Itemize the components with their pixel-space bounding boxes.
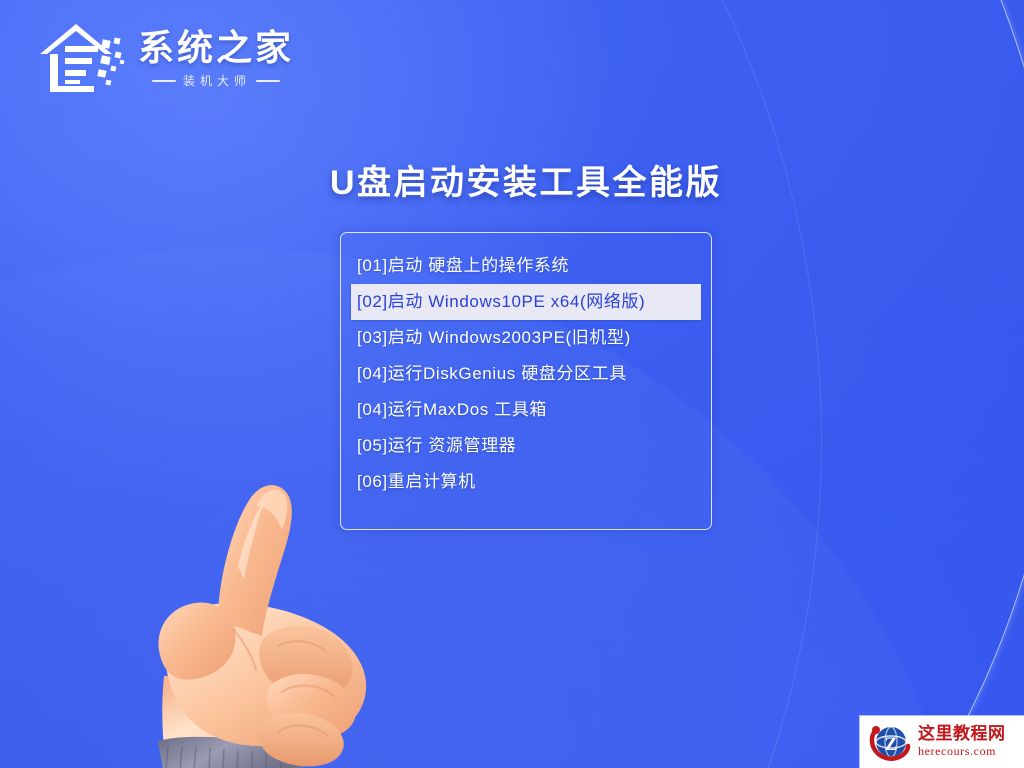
boot-menu-screen: 系统之家 装机大师 U盘启动安装工具全能版 [01]启动 硬盘上的操作系统 [0…: [0, 0, 1024, 768]
watermark-site-name: 这里教程网: [918, 725, 1006, 744]
tagline-rule-right: [256, 80, 280, 82]
brand-logo: 系统之家 装机大师: [36, 16, 294, 102]
tagline-rule-left: [152, 80, 176, 82]
watermark-text: 这里教程网 herecours.com: [918, 725, 1006, 758]
menu-item-05[interactable]: [05]运行 资源管理器: [351, 428, 701, 464]
menu-item-04-maxdos[interactable]: [04]运行MaxDos 工具箱: [351, 392, 701, 428]
globe-z-badge-icon: Z: [866, 720, 912, 764]
boot-menu-list[interactable]: [01]启动 硬盘上的操作系统 [02]启动 Windows10PE x64(网…: [340, 236, 712, 500]
menu-item-02[interactable]: [02]启动 Windows10PE x64(网络版): [351, 284, 701, 320]
house-pixel-logo-icon: [36, 16, 128, 102]
brand-tagline: 装机大师: [183, 72, 251, 89]
brand-tagline-row: 装机大师: [152, 72, 280, 89]
watermark-site-url: herecours.com: [918, 744, 1006, 758]
menu-item-01[interactable]: [01]启动 硬盘上的操作系统: [351, 248, 701, 284]
watermark: Z 这里教程网 herecours.com: [860, 716, 1024, 768]
page-title: U盘启动安装工具全能版: [14, 155, 1024, 204]
brand-logo-text: 系统之家 装机大师: [138, 29, 294, 90]
menu-item-04-diskgenius[interactable]: [04]运行DiskGenius 硬盘分区工具: [351, 356, 701, 392]
menu-item-03[interactable]: [03]启动 Windows2003PE(旧机型): [351, 320, 701, 356]
svg-text:Z: Z: [885, 734, 898, 755]
menu-item-06[interactable]: [06]重启计算机: [351, 464, 701, 500]
brand-name: 系统之家: [138, 29, 294, 67]
